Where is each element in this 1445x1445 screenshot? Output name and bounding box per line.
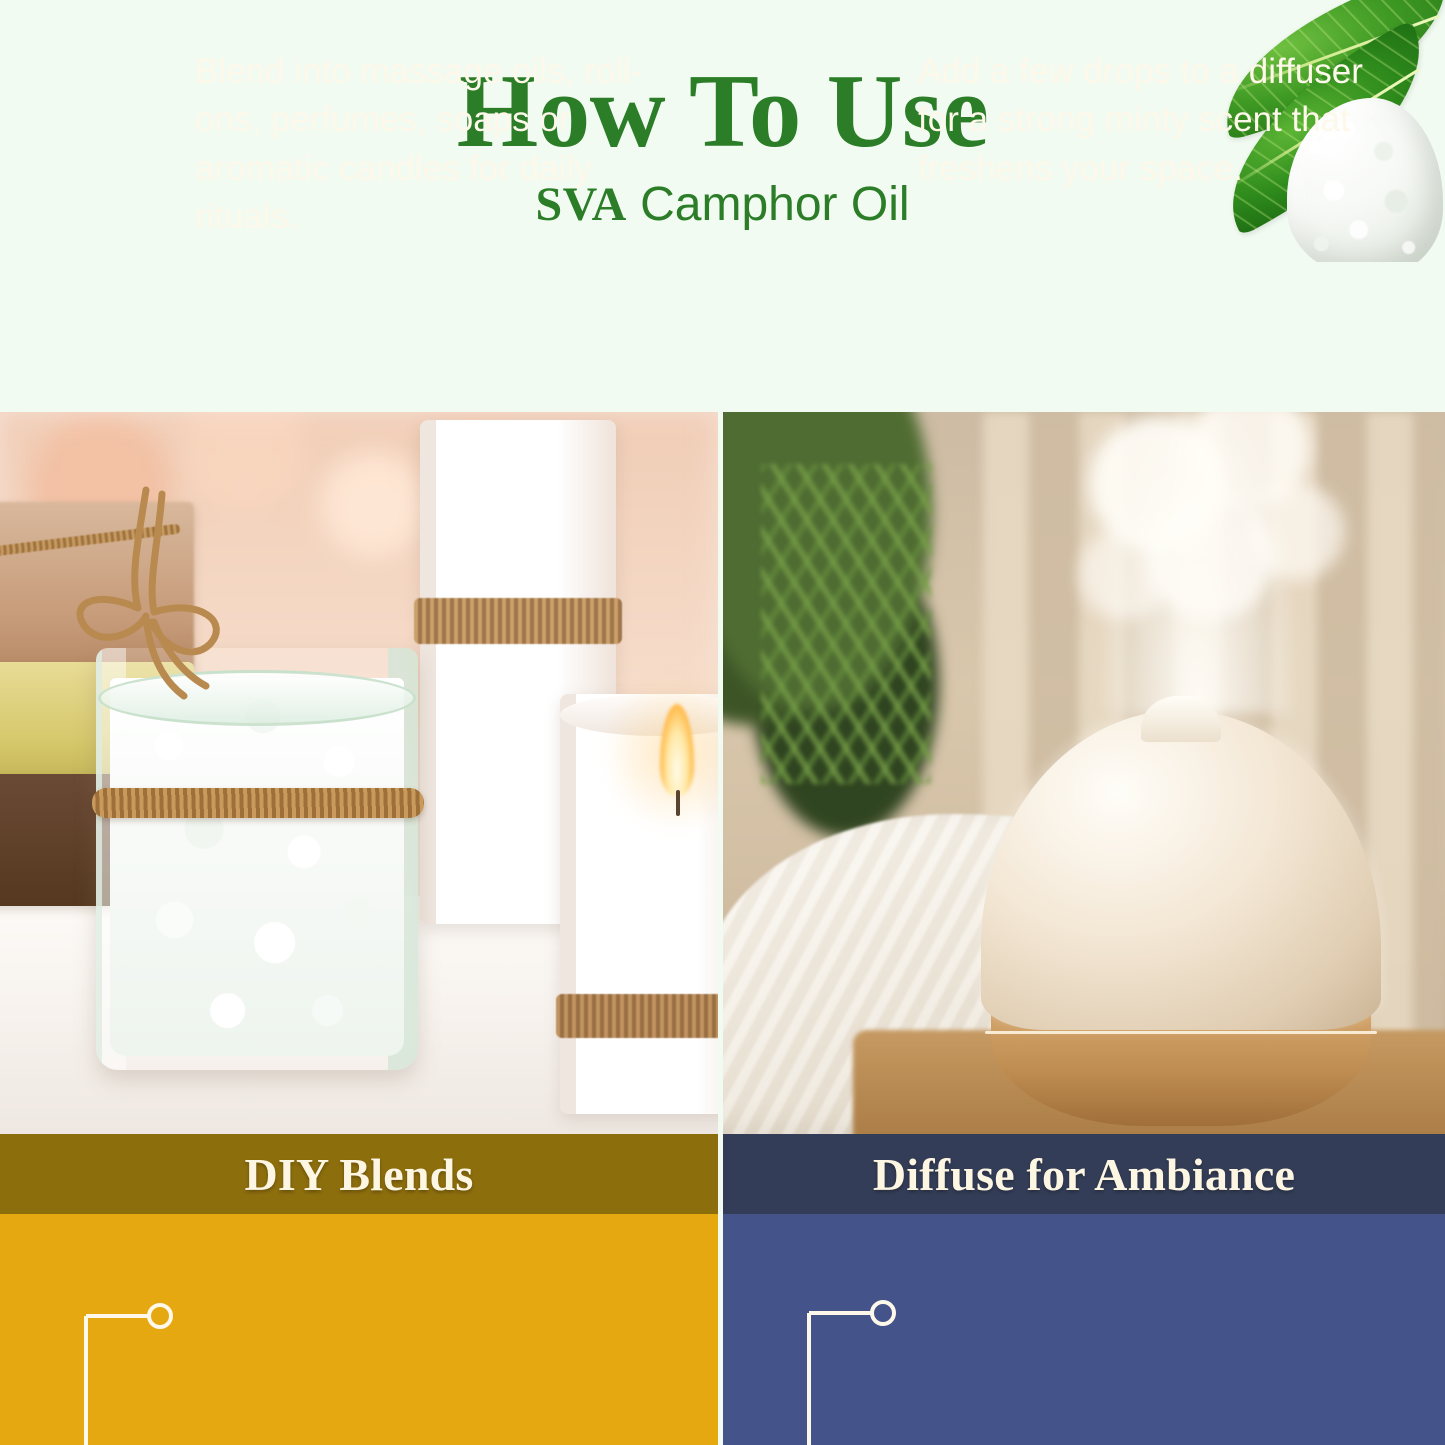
jar-rim [98, 670, 416, 726]
bath-salt-jar [96, 648, 418, 1070]
panel-body-text-diy-blends: Blend into massage oils, roll-ons, perfu… [195, 48, 700, 241]
connector-line-right [723, 1214, 1445, 1445]
connector-line-left [0, 1214, 718, 1445]
candle-wick [676, 790, 680, 816]
twine-wrap [92, 788, 424, 818]
bath-salt-crystals [110, 678, 404, 1056]
mist-cloud [1039, 412, 1369, 700]
diffuser-seam [985, 1031, 1377, 1034]
spa-scene [0, 412, 718, 1134]
panel-body-text-diffuse-for-ambiance: Add a few drops to a diffuser for a stro… [918, 48, 1393, 193]
photo-strip [0, 412, 1445, 1134]
twine-wrap [414, 598, 622, 644]
panel-title-diffuse-for-ambiance: Diffuse for Ambiance [723, 1134, 1445, 1214]
photo-diy-blends [0, 412, 718, 1134]
panel-body-diy-blends [0, 1214, 718, 1445]
twine-wrap [556, 994, 718, 1038]
infographic-page: How To Use SVA Camphor Oil [0, 0, 1445, 1445]
panel-title-diy-blends: DIY Blends [0, 1134, 718, 1214]
diffuser-scene [723, 412, 1445, 1134]
photo-diffuse-for-ambiance [723, 412, 1445, 1134]
plant-foliage [761, 464, 931, 784]
panel-body-diffuse-for-ambiance [723, 1214, 1445, 1445]
